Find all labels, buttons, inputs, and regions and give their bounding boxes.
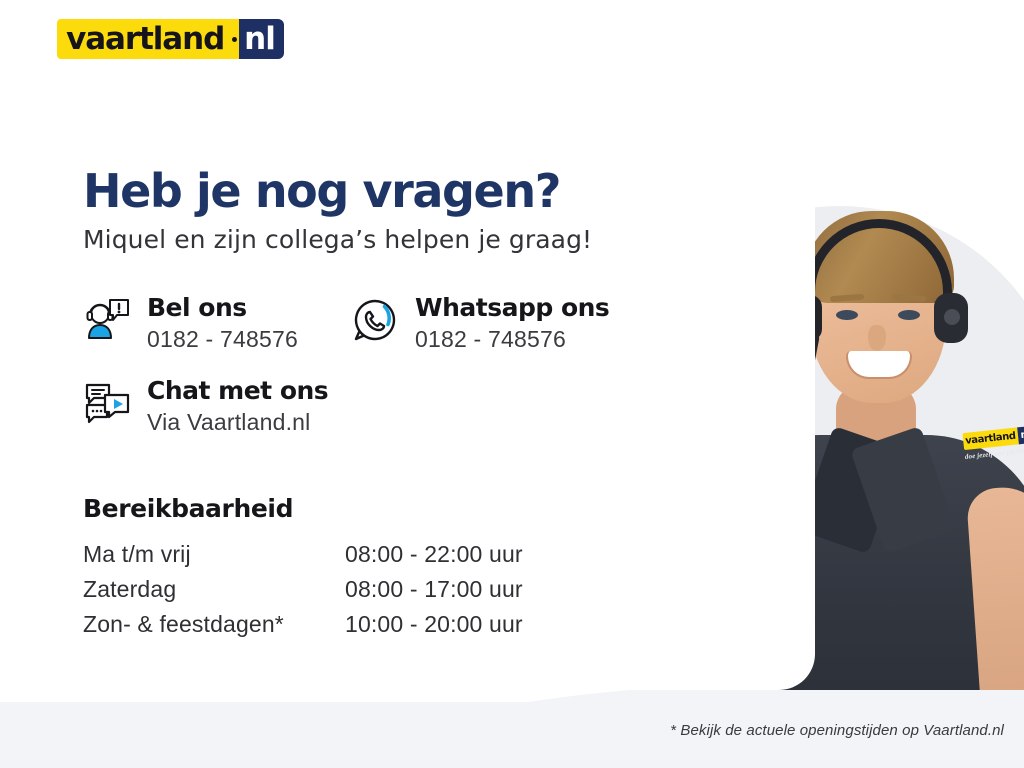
contact-text-call: Bel ons 0182 - 748576 bbox=[147, 294, 298, 355]
table-row: Ma t/m vrij 08:00 - 22:00 uur bbox=[83, 537, 523, 572]
agent-smile bbox=[846, 351, 912, 379]
logo-lockup: vaartland nl bbox=[57, 19, 284, 59]
hours-time: 10:00 - 20:00 uur bbox=[345, 607, 523, 642]
contact-title-whatsapp: Whatsapp ons bbox=[415, 294, 609, 322]
shirt-logo-lockup: vaartland nl bbox=[962, 425, 1024, 450]
brand-logo[interactable]: vaartland nl bbox=[33, 0, 308, 78]
opening-hours-title: Bereikbaarheid bbox=[83, 494, 815, 523]
contact-detail-call: 0182 - 748576 bbox=[147, 325, 298, 355]
content-card: Heb je nog vragen? Miquel en zijn colleg… bbox=[33, 125, 815, 690]
shirt-logo-wordmark: vaartland bbox=[962, 427, 1018, 450]
contact-title-chat: Chat met ons bbox=[147, 377, 328, 405]
footnote: * Bekijk de actuele openingstijden op Va… bbox=[0, 722, 1004, 739]
agent-headset-icon bbox=[83, 296, 131, 344]
chat-bubbles-icon bbox=[83, 379, 131, 427]
contact-item-whatsapp[interactable]: Whatsapp ons 0182 - 748576 bbox=[351, 294, 619, 355]
shirt-logo-tld: nl bbox=[1017, 426, 1024, 445]
hours-time: 08:00 - 22:00 uur bbox=[345, 537, 523, 572]
hours-day: Ma t/m vrij bbox=[83, 537, 345, 572]
whatsapp-icon bbox=[351, 296, 399, 344]
opening-hours-table: Ma t/m vrij 08:00 - 22:00 uur Zaterdag 0… bbox=[83, 537, 523, 642]
contact-text-chat: Chat met ons Via Vaartland.nl bbox=[147, 377, 328, 438]
contact-detail-whatsapp: 0182 - 748576 bbox=[415, 325, 609, 355]
hours-day: Zon- & feestdagen* bbox=[83, 607, 345, 642]
shirt-logo: vaartland nl doe jezelf een plezier bbox=[962, 425, 1024, 467]
page-title: Heb je nog vragen? bbox=[83, 167, 815, 215]
card-inner: Heb je nog vragen? Miquel en zijn colleg… bbox=[33, 125, 815, 642]
contact-title-call: Bel ons bbox=[147, 294, 298, 322]
hours-time: 08:00 - 17:00 uur bbox=[345, 572, 523, 607]
table-row: Zon- & feestdagen* 10:00 - 20:00 uur bbox=[83, 607, 523, 642]
page-subtitle: Miquel en zijn collega’s helpen je graag… bbox=[83, 225, 815, 254]
contact-text-whatsapp: Whatsapp ons 0182 - 748576 bbox=[415, 294, 609, 355]
contact-item-chat[interactable]: Chat met ons Via Vaartland.nl bbox=[83, 377, 351, 438]
contact-methods: Bel ons 0182 - 748576 Whatsapp ons 0182 … bbox=[83, 294, 815, 438]
logo-tld: nl bbox=[239, 19, 284, 59]
headset-earcup-right bbox=[934, 293, 968, 343]
logo-wordmark: vaartland bbox=[57, 19, 232, 59]
opening-hours: Bereikbaarheid Ma t/m vrij 08:00 - 22:00… bbox=[83, 494, 815, 642]
dot-icon bbox=[232, 19, 239, 59]
contact-detail-chat: Via Vaartland.nl bbox=[147, 408, 328, 438]
table-row: Zaterdag 08:00 - 17:00 uur bbox=[83, 572, 523, 607]
agent-nose bbox=[868, 325, 886, 351]
hours-day: Zaterdag bbox=[83, 572, 345, 607]
contact-item-call[interactable]: Bel ons 0182 - 748576 bbox=[83, 294, 351, 355]
